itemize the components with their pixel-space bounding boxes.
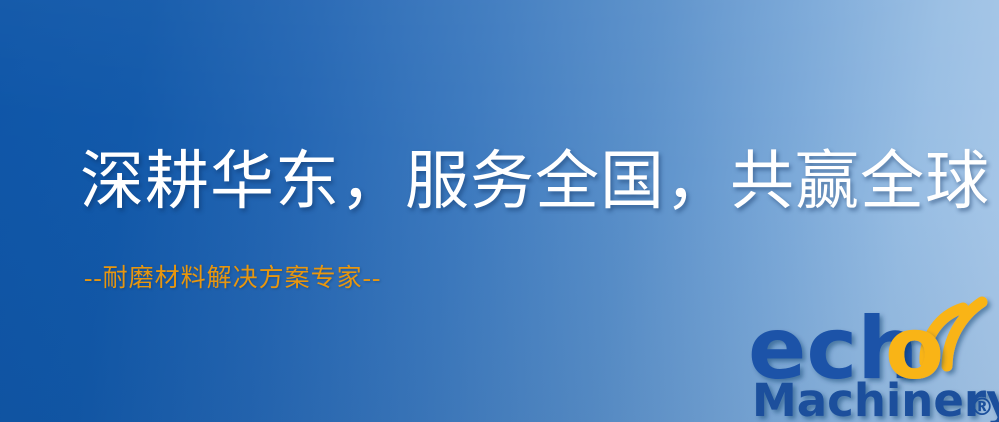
page-subtitle: --耐磨材料解决方案专家--: [84, 266, 381, 291]
page-title: 深耕华东，服务全国，共赢全球: [80, 150, 990, 214]
hero-banner: 深耕华东，服务全国，共赢全球 --耐磨材料解决方案专家-- ech o Mach…: [0, 0, 999, 422]
echo-machinery-logo[interactable]: ech o Machinery ®: [748, 296, 999, 422]
logo-text-machinery: Machinery: [752, 374, 999, 422]
registered-trademark-icon: ®: [970, 393, 994, 421]
